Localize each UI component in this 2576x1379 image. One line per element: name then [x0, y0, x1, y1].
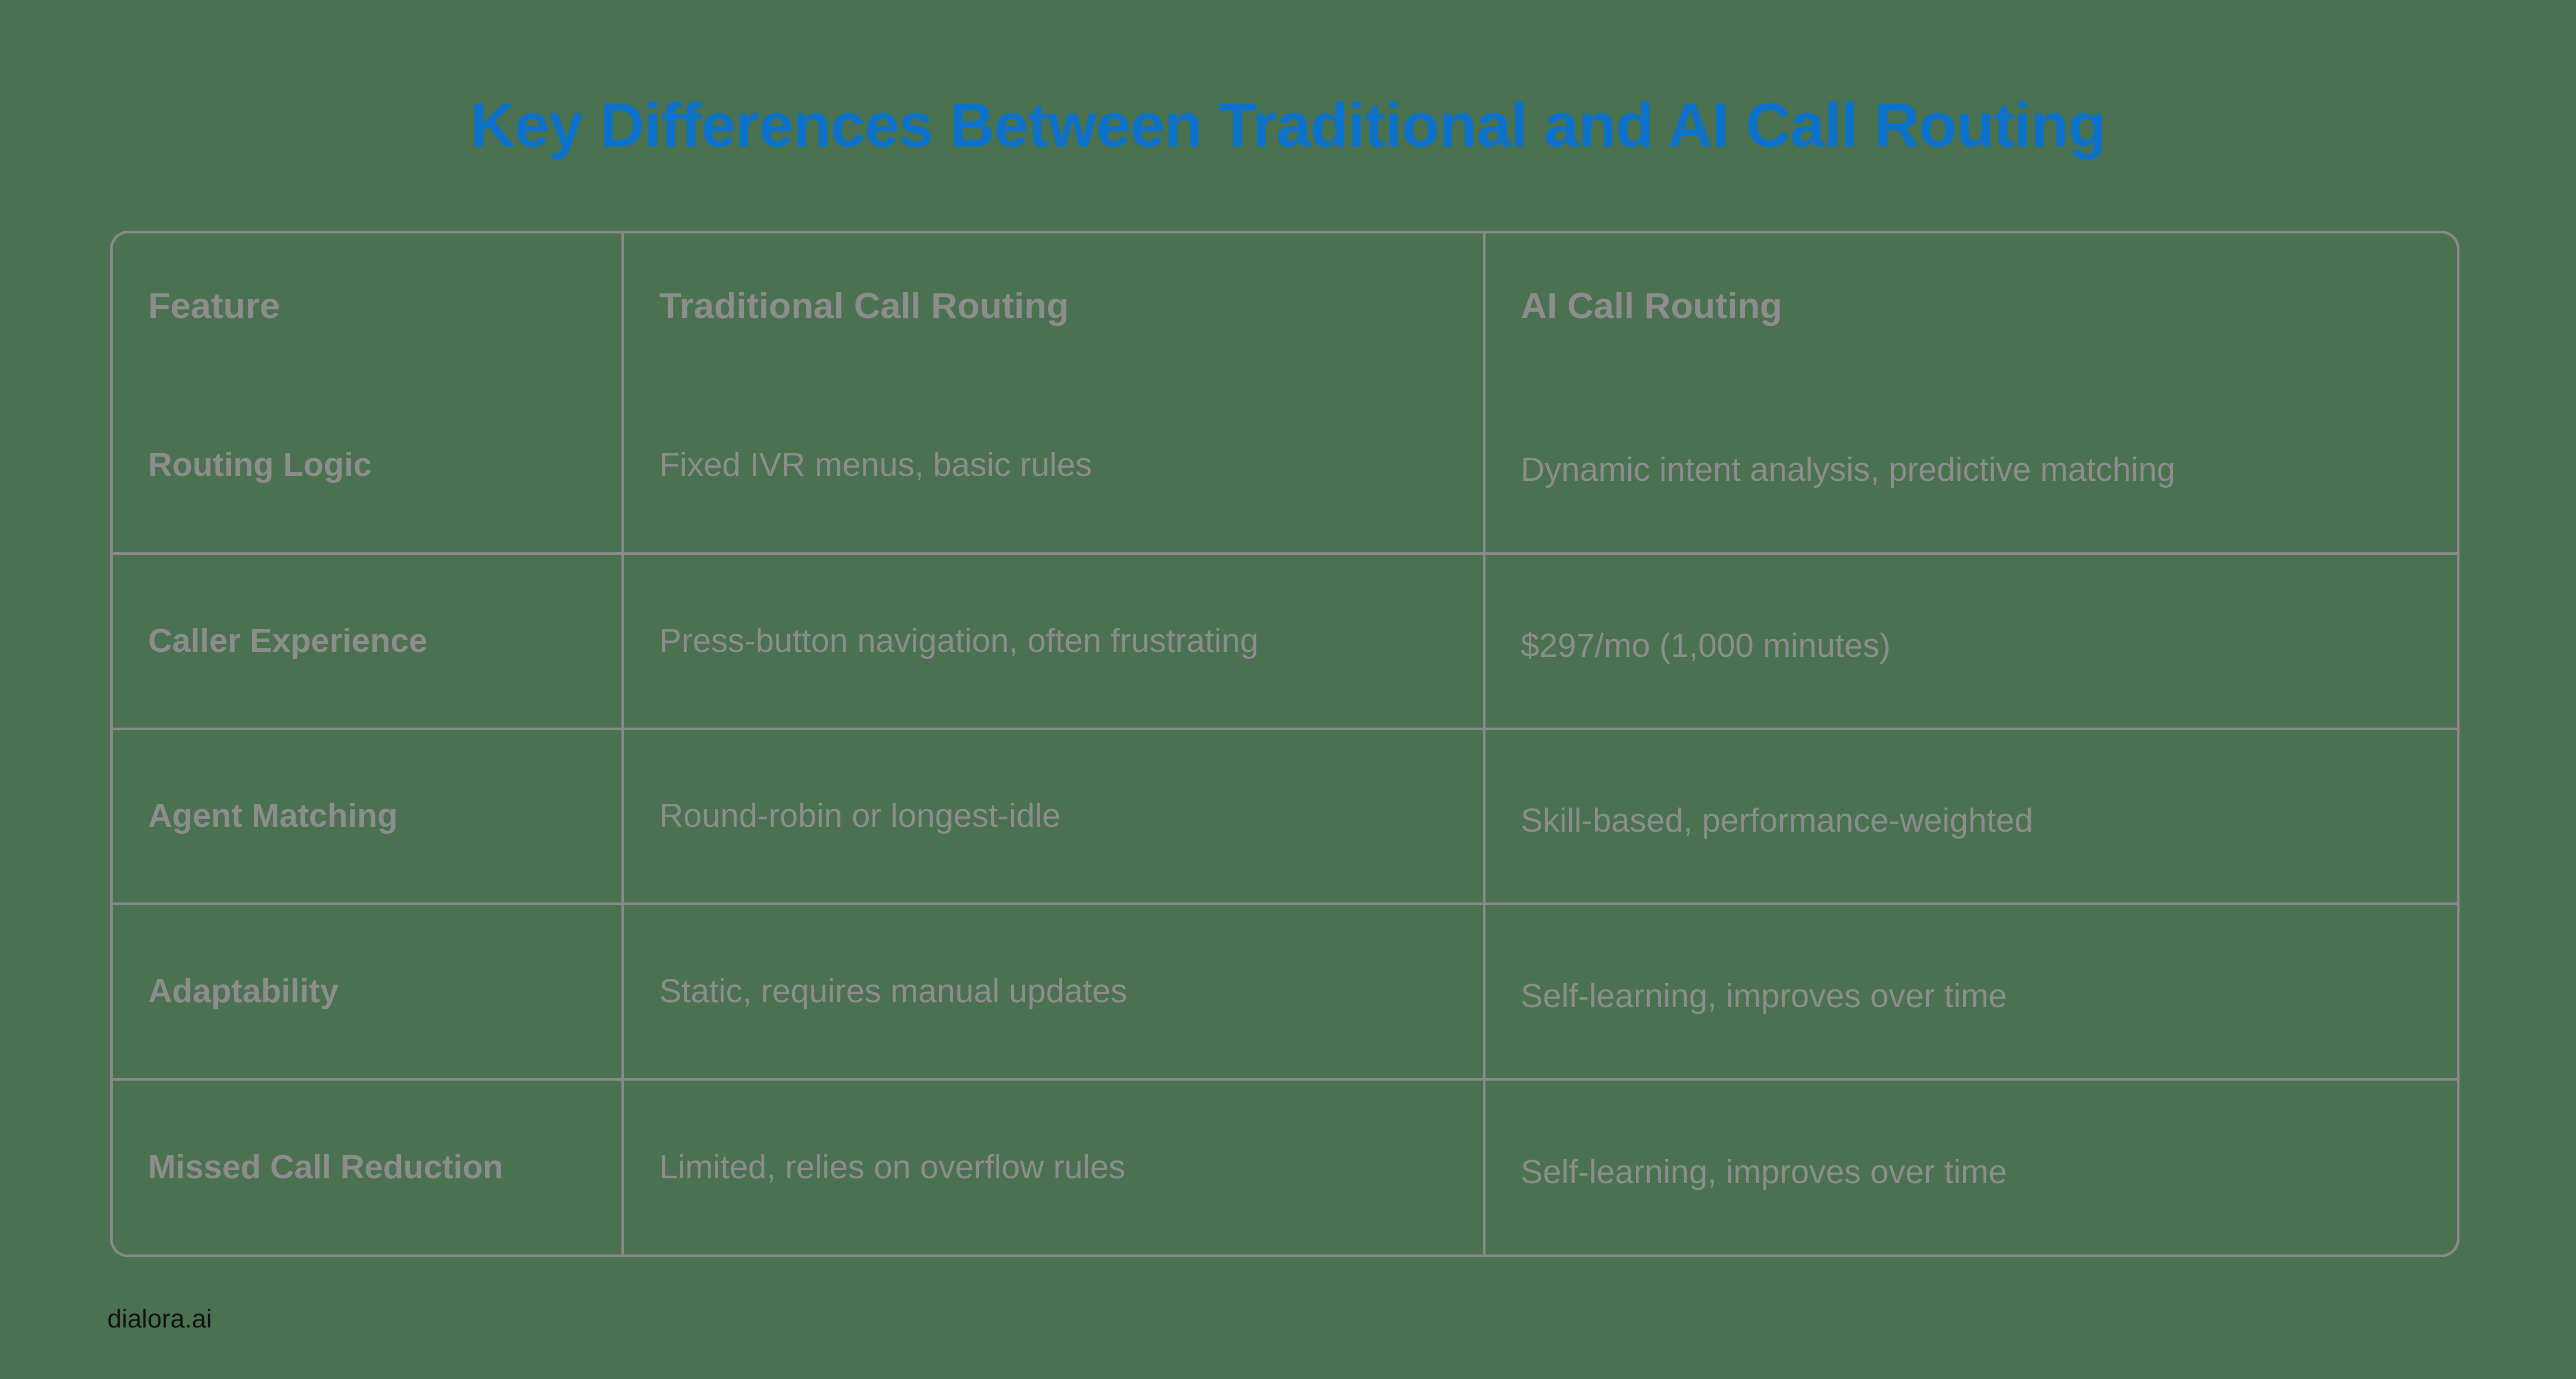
comparison-table-container: Feature Traditional Call Routing AI Call…	[110, 231, 2460, 1257]
column-header-traditional-call-routing: Traditional Call Routing	[623, 233, 1484, 378]
cell-traditional: Round-robin or longest-idle	[623, 729, 1484, 904]
page-title: Key Differences Between Traditional and …	[0, 91, 2576, 160]
cell-traditional: Press-button navigation, often frustrati…	[623, 554, 1484, 729]
cell-feature: Routing Logic	[113, 378, 623, 554]
cell-traditional: Limited, relies on overflow rules	[623, 1079, 1484, 1255]
cell-ai: Self-learning, improves over time	[1484, 909, 2460, 1084]
table-body: Routing Logic Fixed IVR menus, basic rul…	[113, 378, 2460, 1255]
table-row: Missed Call Reduction Limited, relies on…	[113, 1079, 2460, 1255]
table-row: Adaptability Static, requires manual upd…	[113, 904, 2460, 1080]
table-row: Routing Logic Fixed IVR menus, basic rul…	[113, 378, 2460, 554]
cell-ai: Self-learning, improves over time	[1484, 1084, 2460, 1257]
cell-ai: Skill-based, performance-weighted	[1484, 733, 2460, 909]
footer-brand: dialora.ai	[107, 1304, 212, 1335]
table-header-row: Feature Traditional Call Routing AI Call…	[113, 233, 2460, 378]
page-root: Key Differences Between Traditional and …	[0, 0, 2576, 1379]
cell-ai: Dynamic intent analysis, predictive matc…	[1484, 383, 2460, 559]
cell-ai: $297/mo (1,000 minutes)	[1484, 559, 2460, 734]
column-header-feature: Feature	[113, 233, 623, 378]
cell-feature: Adaptability	[113, 904, 623, 1080]
table-row: Caller Experience Press-button navigatio…	[113, 554, 2460, 729]
cell-feature: Missed Call Reduction	[113, 1079, 623, 1255]
cell-feature: Agent Matching	[113, 729, 623, 904]
table-row: Agent Matching Round-robin or longest-id…	[113, 729, 2460, 904]
cell-traditional: Static, requires manual updates	[623, 904, 1484, 1080]
table-header: Feature Traditional Call Routing AI Call…	[113, 233, 2460, 378]
column-header-ai-call-routing: AI Call Routing	[1484, 233, 2460, 378]
cell-feature: Caller Experience	[113, 554, 623, 729]
comparison-table: Feature Traditional Call Routing AI Call…	[113, 233, 2460, 1255]
cell-traditional: Fixed IVR menus, basic rules	[623, 378, 1484, 554]
